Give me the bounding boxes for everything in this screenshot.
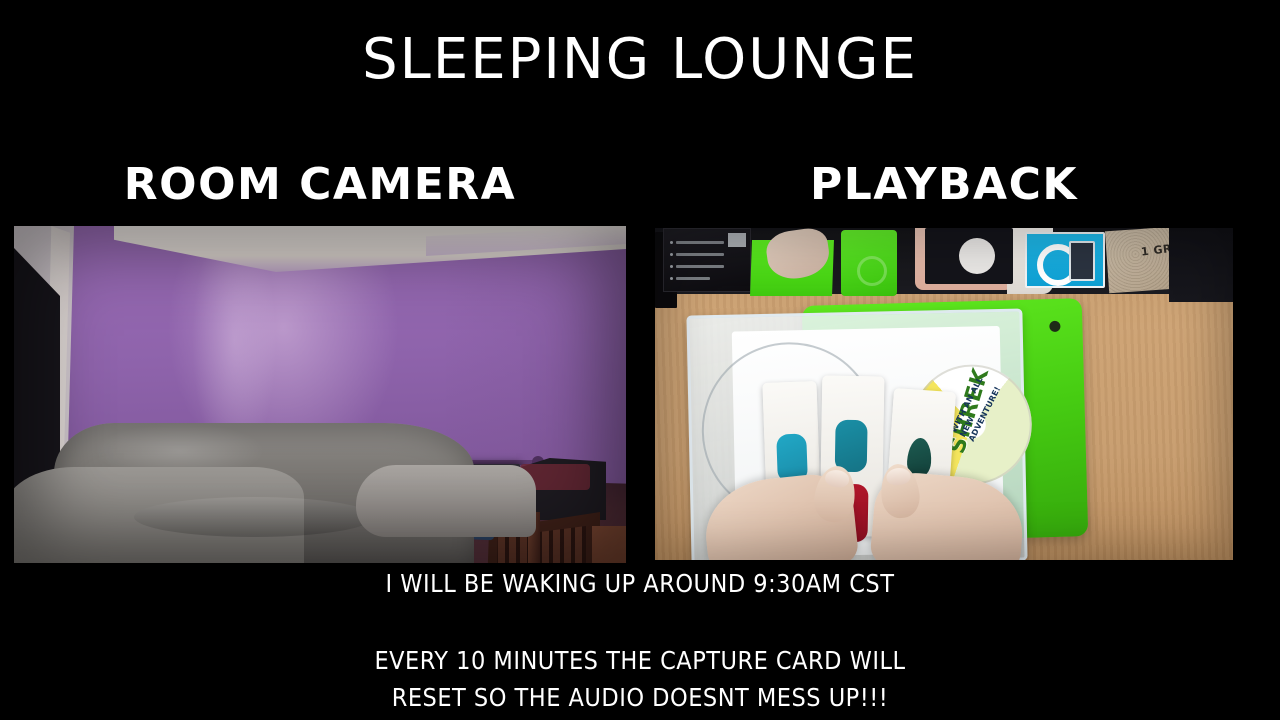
bullet-dot <box>670 253 673 256</box>
bullet-dot <box>670 265 673 268</box>
pillow <box>356 465 536 537</box>
capture-card-caption-line-1: EVERY 10 MINUTES THE CAPTURE CARD WILL <box>0 648 1280 673</box>
bullet-dot <box>670 277 673 280</box>
box-text-line <box>676 253 724 256</box>
playback-heading: PLAYBACK <box>655 163 1233 207</box>
stream-overlay-stage: SLEEPING LOUNGE ROOM CAMERA PLAYBACK <box>0 0 1280 720</box>
green-ipod-case <box>841 230 897 296</box>
comforter-crease <box>134 497 374 537</box>
room-camera-video[interactable] <box>14 226 626 563</box>
thumbnail <box>886 467 912 486</box>
box-sticker <box>728 233 746 247</box>
box-text-line <box>676 265 724 268</box>
cyan-lens <box>835 420 868 473</box>
bedroom-scene <box>14 226 626 563</box>
black-box-right <box>1169 228 1233 302</box>
ipod-nano-box <box>1025 232 1105 288</box>
room-camera-heading: ROOM CAMERA <box>14 163 626 207</box>
page-title: SLEEPING LOUNGE <box>0 32 1280 88</box>
playback-video[interactable]: 1 GRIT SHREK WITH AN ALL NEW ADVENTURE! <box>655 228 1233 560</box>
box-text-line <box>676 277 710 280</box>
thumbnail <box>824 469 850 489</box>
desk-scene: 1 GRIT SHREK WITH AN ALL NEW ADVENTURE! <box>655 228 1233 560</box>
capture-card-caption-line-2: RESET SO THE AUDIO DOESNT MESS UP!!! <box>0 685 1280 710</box>
bullet-dot <box>670 241 673 244</box>
crib-side <box>592 526 626 563</box>
click-wheel-graphic <box>959 238 995 274</box>
ipod-screen-graphic <box>1069 241 1095 281</box>
ipod-product-box <box>663 228 751 292</box>
wake-time-caption: I WILL BE WAKING UP AROUND 9:30AM CST <box>0 571 1280 596</box>
ipod-classic-box <box>925 228 1013 284</box>
box-text-line <box>676 241 724 244</box>
